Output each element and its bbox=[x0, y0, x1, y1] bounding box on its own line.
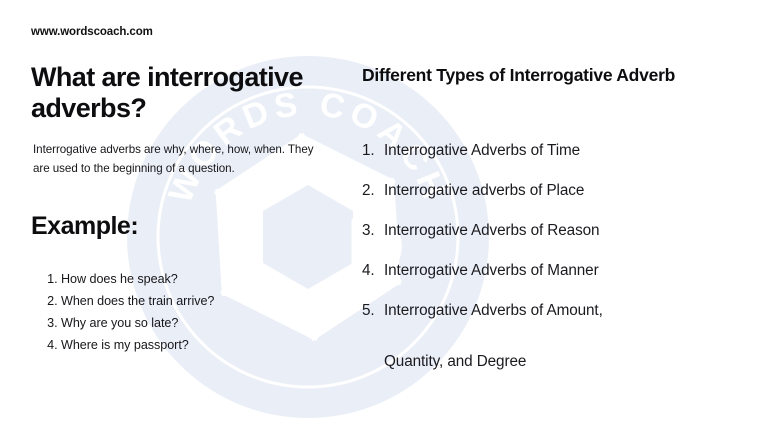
aperture-opening bbox=[263, 185, 353, 289]
types-list-item-label: Interrogative adverbs of Place bbox=[384, 182, 742, 200]
slide-canvas: WORDS COACH bbox=[0, 0, 768, 432]
types-list-item-label: Interrogative Adverbs of Amount, bbox=[384, 302, 742, 320]
page-title: What are interrogative adverbs? bbox=[31, 62, 351, 125]
example-list-item: How does he speak? bbox=[61, 269, 214, 291]
types-list-item: 2.Interrogative adverbs of Place bbox=[362, 182, 742, 222]
types-list-item: 3.Interrogative Adverbs of Reason bbox=[362, 222, 742, 262]
intro-paragraph: Interrogative adverbs are why, where, ho… bbox=[33, 141, 323, 179]
types-list: 1.Interrogative Adverbs of Time2.Interro… bbox=[362, 142, 742, 382]
types-list-item-number: 5. bbox=[362, 302, 384, 320]
types-list-item-label-cont: Quantity, and Degree bbox=[362, 342, 742, 382]
example-list: How does he speak?When does the train ar… bbox=[37, 269, 214, 357]
left-column: What are interrogative adverbs? Interrog… bbox=[31, 62, 351, 125]
types-list-item-number: 1. bbox=[362, 142, 384, 160]
site-url-label: www.wordscoach.com bbox=[31, 26, 153, 38]
example-list-item: When does the train arrive? bbox=[61, 291, 214, 313]
types-list-item: 4.Interrogative Adverbs of Manner bbox=[362, 262, 742, 302]
types-list-item-label: Interrogative Adverbs of Manner bbox=[384, 262, 742, 280]
example-list-item: Where is my passport? bbox=[61, 335, 214, 357]
example-list-item: Why are you so late? bbox=[61, 313, 214, 335]
types-heading: Different Types of Interrogative Adverb bbox=[362, 64, 742, 87]
types-list-item: 1.Interrogative Adverbs of Time bbox=[362, 142, 742, 182]
types-list-item-number: 4. bbox=[362, 262, 384, 280]
types-list-item-label: Interrogative Adverbs of Reason bbox=[384, 222, 742, 240]
example-heading: Example: bbox=[31, 212, 138, 241]
types-list-item-number: 3. bbox=[362, 222, 384, 240]
right-column: Different Types of Interrogative Adverb … bbox=[362, 64, 742, 87]
types-list-item-number: 2. bbox=[362, 182, 384, 200]
types-list-item-label: Interrogative Adverbs of Time bbox=[384, 142, 742, 160]
types-list-item: 5.Interrogative Adverbs of Amount,Quanti… bbox=[362, 302, 742, 382]
